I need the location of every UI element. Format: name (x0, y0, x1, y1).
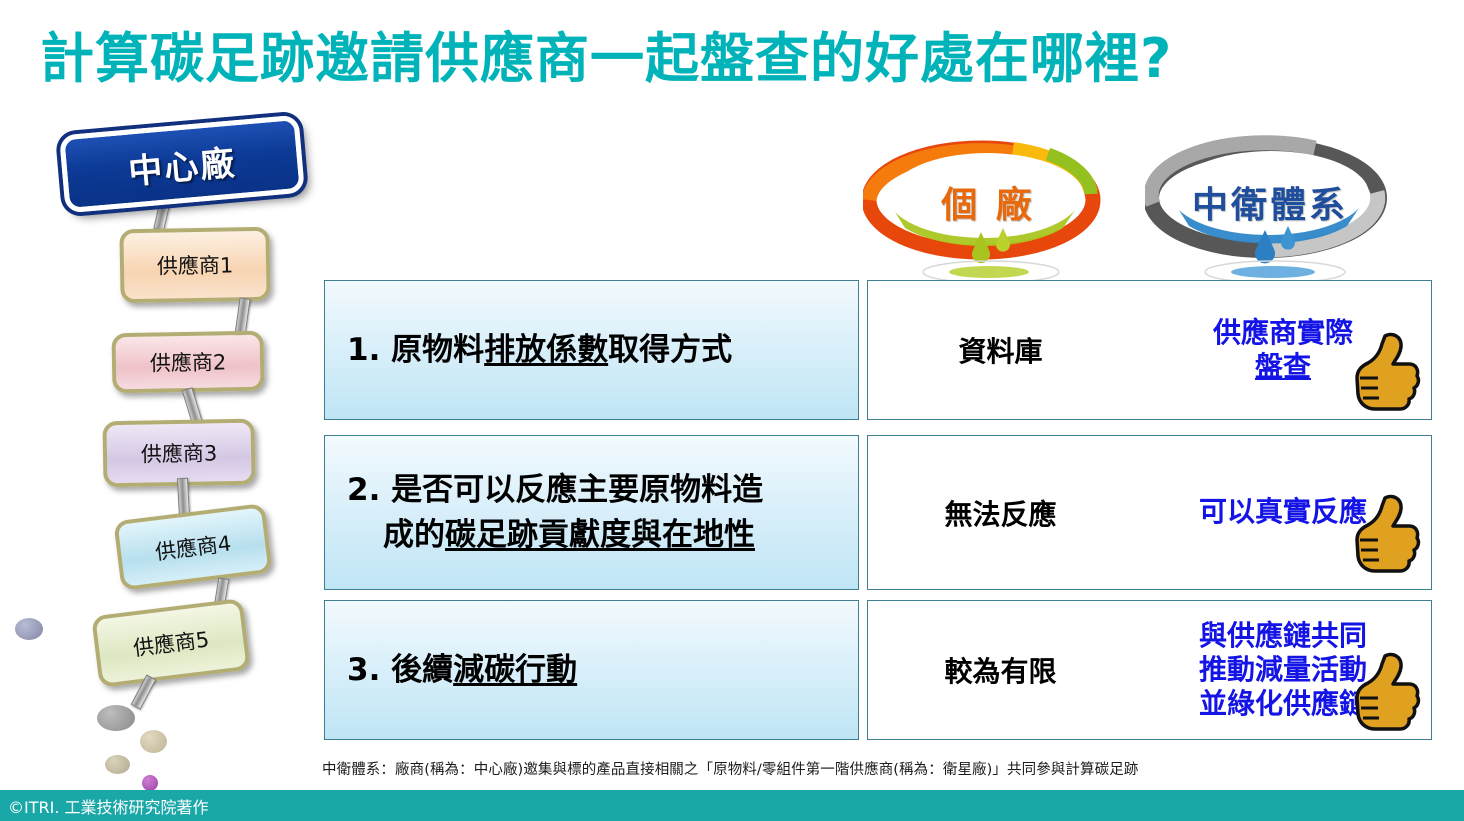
emblem-individual-factory: 個 廠 (863, 132, 1113, 282)
system-value-1: 供應商實際 盤查 (1213, 316, 1353, 384)
topic-card-2: 2. 是否可以反應主要原物料造 成的碳足跡貢獻度與在地性 (324, 435, 859, 590)
topic-number-1: 1. (347, 332, 380, 368)
chain-node-supplier-4[interactable]: 供應商4 (113, 503, 272, 591)
footer-bar: ©ITRI. 工業技術研究院著作 (0, 790, 1464, 821)
factory-cell-1: 資料庫 (868, 281, 1133, 419)
emblem-individual-factory-label: 個 廠 (863, 176, 1113, 228)
comparison-card-3: 較為有限 與供應鏈共同 推動減量活動 並綠化供應鏈 (867, 600, 1432, 740)
factory-value-1: 資料庫 (958, 330, 1042, 370)
page-title: 計算碳足跡邀請供應商一起盤查的好處在哪裡? (40, 14, 1440, 93)
decorative-bubble (140, 730, 167, 753)
chain-node-supplier-3[interactable]: 供應商3 (102, 419, 255, 488)
chain-node-label: 供應商2 (150, 346, 227, 377)
emblem-center-satellite-system: 中衛體系 (1145, 132, 1395, 282)
factory-value-3: 較為有限 (944, 650, 1056, 690)
topic-line2-pre-2: 成的 (347, 513, 445, 558)
factory-cell-3: 較為有限 (868, 601, 1133, 739)
decorative-bubble (15, 618, 43, 640)
chain-node-supplier-2[interactable]: 供應商2 (111, 331, 264, 394)
topic-text-2: 2. 是否可以反應主要原物料造 成的碳足跡貢獻度與在地性 (325, 468, 773, 558)
hub-plant-label: 中心廠 (126, 135, 238, 193)
supply-chain-diagram: 中心廠 供應商1 供應商2 供應商3 供應商4 供應商5 (0, 110, 320, 800)
topic-card-1: 1. 原物料排放係數取得方式 (324, 280, 859, 420)
thumbs-up-icon-1 (1352, 330, 1422, 422)
system-value-2: 可以真實反應 (1199, 495, 1367, 529)
topic-pre-3: 後續 (391, 652, 453, 688)
decorative-bubble (142, 775, 158, 791)
system-value-line: 並綠化供應鏈 (1199, 687, 1367, 720)
topic-text-1: 1. 原物料排放係數取得方式 (325, 328, 742, 373)
topic-text-3: 3. 後續減碳行動 (325, 648, 587, 693)
topic-number-3: 3. (347, 652, 380, 688)
chain-node-label: 供應商3 (141, 437, 218, 468)
topic-card-3: 3. 後續減碳行動 (324, 600, 859, 740)
topic-line2-underline-2: 碳足跡貢獻度與在地性 (445, 517, 755, 553)
system-value-line: 供應商實際 (1213, 316, 1353, 349)
chain-node-label: 供應商1 (157, 249, 234, 280)
thumbs-up-icon-2 (1352, 492, 1422, 584)
thumbs-up-icon-3 (1352, 650, 1422, 742)
topic-post-1: 取得方式 (608, 332, 732, 368)
footnote: 中衛體系：廠商(稱為：中心廠)邀集與標的產品直接相關之「原物料/零組件第一階供應… (322, 758, 1442, 779)
factory-value-2: 無法反應 (944, 493, 1056, 533)
chain-node-label: 供應商4 (153, 527, 232, 566)
system-value-line: 盤查 (1255, 350, 1311, 383)
emblem-center-satellite-system-label: 中衛體系 (1145, 176, 1395, 228)
chain-node-supplier-5[interactable]: 供應商5 (91, 598, 251, 688)
topic-underline-3: 減碳行動 (453, 652, 577, 688)
copyright-text: ©ITRI. 工業技術研究院著作 (0, 794, 209, 818)
system-value-line: 推動減量活動 (1199, 653, 1367, 686)
chain-node-label: 供應商5 (131, 623, 210, 662)
system-value-line: 與供應鏈共同 (1199, 619, 1367, 652)
factory-cell-2: 無法反應 (868, 436, 1133, 589)
decorative-bubble (97, 705, 135, 731)
chain-node-supplier-1[interactable]: 供應商1 (119, 227, 270, 304)
topic-pre-1: 原物料 (391, 332, 484, 368)
comparison-card-2: 無法反應 可以真實反應 (867, 435, 1432, 590)
topic-number-2: 2. (347, 472, 380, 508)
slide-canvas: 計算碳足跡邀請供應商一起盤查的好處在哪裡? 中心廠 供應商1 供應商2 供應商3… (0, 0, 1464, 821)
topic-underline-1: 排放係數 (484, 332, 608, 368)
topic-pre-2: 是否可以反應主要原物料造 (391, 472, 763, 508)
hub-plant-badge: 中心廠 (59, 115, 305, 214)
decorative-bubble (105, 755, 130, 774)
comparison-card-1: 資料庫 供應商實際 盤查 (867, 280, 1432, 420)
system-value-3: 與供應鏈共同 推動減量活動 並綠化供應鏈 (1199, 619, 1367, 721)
